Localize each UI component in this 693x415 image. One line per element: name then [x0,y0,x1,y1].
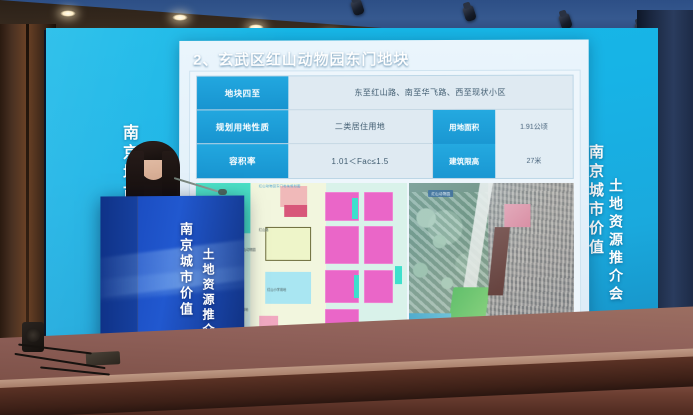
zoning-residential-block [364,192,393,222]
satellite-photo: 红山动物园 [409,183,574,332]
backdrop-banner-right-line2: 土地资源推介会 [604,178,624,304]
table-row-value: 东至红山路、南至华飞路、西至现状小区 [288,76,572,111]
speaker-hair-right [162,151,177,201]
zoning-residential-block [364,226,393,265]
zoning-annotation: 红山路 [259,227,269,232]
table-mini-value: 1.91公顷 [495,110,573,144]
table-row-value: 1.01＜Fac≤1.5 [288,144,432,178]
table-mini-value: 27米 [495,144,573,178]
table-row: 容积率 1.01＜Fac≤1.5 建筑限高 27米 [197,144,573,178]
table-row-value: 二类居住用地 [288,110,432,144]
table-mini-label: 用地面积 [433,110,495,144]
zoning-red-block-2 [284,205,307,217]
table-row-label: 规划用地性质 [197,110,288,144]
podium-title-line1: 南京城市价值 [176,222,195,318]
zoning-residential-block [364,270,393,303]
zoning-teal-strip [395,266,402,284]
zoning-annotation: 红山小学用地 [267,286,286,291]
stage-floor [0,338,693,415]
microphone-head-icon [218,189,227,195]
conference-hall-scene: 南京城市价值 土地资源 南京城市价值 土地资源推介会 NANJING LAND … [0,0,693,415]
downlight-icon [60,10,76,17]
photo-sheen [409,183,574,332]
zoning-subject-parcel [265,227,311,261]
table-mini-cell: 建筑限高 27米 [432,144,573,178]
slide-maps: 红山动物园东门地块规划图 [196,183,574,332]
slide-title: 2、玄武区红山动物园东门地块 [193,48,409,70]
table-row-label: 地块四至 [197,76,288,110]
table-row: 规划用地性质 二类居住用地 用地面积 1.91公顷 [197,110,573,145]
zoning-teal-strip [352,198,357,219]
parcel-info-table: 地块四至 东至红山路、南至华飞路、西至现状小区 规划用地性质 二类居住用地 用地… [196,75,574,179]
table-mini-label: 建筑限高 [433,144,495,178]
downlight-icon [172,14,188,21]
table-mini-cell: 用地面积 1.91公顷 [432,110,573,144]
speaker-hair-left [130,151,144,203]
table-row-label: 容积率 [197,144,288,178]
zoning-residential-block [325,226,359,265]
zoning-block-grid [322,183,407,331]
table-row: 地块四至 东至红山路、南至华飞路、西至现状小区 [197,76,573,111]
zoning-top-note: 红山动物园东门地块规划图 [259,184,301,188]
zoning-red-block-1 [280,186,307,207]
slide-content: 地块四至 东至红山路、南至华飞路、西至现状小区 规划用地性质 二类居住用地 用地… [189,70,581,337]
zoning-teal-strip [354,275,359,299]
